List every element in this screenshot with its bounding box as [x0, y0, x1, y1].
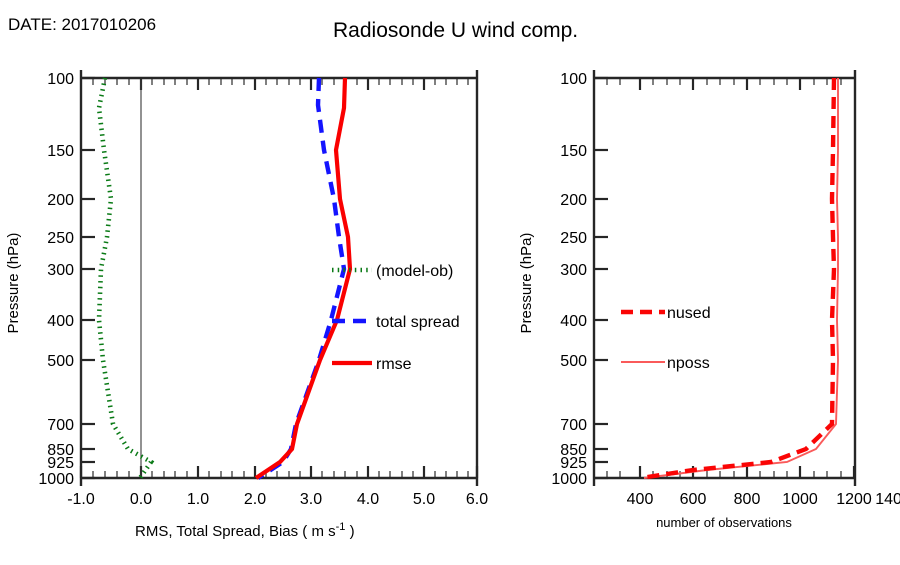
figure-canvas: DATE: 2017010206 Radiosonde U wind comp.… — [0, 0, 900, 560]
xtick-label: 2.0 — [244, 491, 266, 508]
left-ytick-labels: 100 150 200 250 300 400 500 700 850 925 … — [38, 71, 74, 488]
xtick-label: 4.0 — [357, 491, 379, 508]
ytick-label: 300 — [560, 262, 587, 279]
left-legend: (model-ob) total spread rmse — [332, 263, 460, 373]
ytick-label: 1000 — [38, 471, 74, 488]
left-panel: Pressure (hPa) 100 150 200 250 300 400 5… — [5, 70, 488, 540]
ytick-label: 100 — [560, 71, 587, 88]
xtick-label: 3.0 — [300, 491, 322, 508]
xtick-label: -1.0 — [67, 491, 95, 508]
xtick-label: 1000 — [782, 491, 818, 508]
xtick-label: 1.0 — [187, 491, 209, 508]
ytick-label: 925 — [47, 455, 74, 472]
right-legend: nused nposs — [621, 305, 711, 372]
right-xtick-minor — [607, 78, 841, 478]
right-ytick-marks — [594, 78, 608, 478]
xtick-label: 400 — [627, 491, 654, 508]
right-xaxis-title: number of observations — [656, 515, 792, 530]
legend-label-rmse: rmse — [376, 356, 412, 373]
page-title: Radiosonde U wind comp. — [333, 19, 578, 42]
ytick-label: 1000 — [551, 471, 587, 488]
ytick-label: 500 — [47, 353, 74, 370]
plot-svg: DATE: 2017010206 Radiosonde U wind comp.… — [0, 0, 900, 560]
legend-label-spread: total spread — [376, 314, 460, 331]
ytick-label: 150 — [47, 143, 74, 160]
ytick-label: 250 — [560, 230, 587, 247]
legend-label-bias: (model-ob) — [376, 263, 453, 280]
legend-label-nposs: nposs — [667, 355, 710, 372]
xtick-label: 1400 — [875, 491, 900, 508]
ytick-label: 250 — [47, 230, 74, 247]
series-bias-model-minus-ob — [99, 78, 151, 478]
ytick-label: 400 — [47, 313, 74, 330]
ytick-label: 150 — [560, 143, 587, 160]
ytick-label: 400 — [560, 313, 587, 330]
ytick-label: 700 — [47, 417, 74, 434]
right-xtick-labels: 400 600 800 1000 1200 — [627, 491, 872, 508]
xtick-label: 5.0 — [413, 491, 435, 508]
right-ytick-labels: 100 150 200 250 300 400 500 700 850 925 … — [551, 71, 587, 488]
xtick-label: 0.0 — [130, 491, 152, 508]
series-nposs — [644, 78, 838, 478]
right-yaxis-title: Pressure (hPa) — [518, 233, 535, 334]
ytick-label: 300 — [47, 262, 74, 279]
xtick-label: 1200 — [836, 491, 872, 508]
date-label: DATE: 2017010206 — [8, 15, 156, 34]
ytick-label: 500 — [560, 353, 587, 370]
left-ytick-marks — [81, 78, 95, 478]
series-nused — [641, 78, 834, 478]
xtick-label: 800 — [734, 491, 761, 508]
left-xtick-labels: -1.0 0.0 1.0 2.0 3.0 4.0 5.0 6.0 — [67, 491, 488, 508]
xtick-label: 600 — [680, 491, 707, 508]
left-yaxis-title: Pressure (hPa) — [5, 233, 22, 334]
series-rmse — [256, 78, 350, 478]
right-panel: Pressure (hPa) 100 150 200 250 300 400 5… — [518, 70, 900, 530]
left-xaxis-title: RMS, Total Spread, Bias ( m s-1 ) — [135, 521, 355, 540]
ytick-label: 100 — [47, 71, 74, 88]
ytick-label: 925 — [560, 455, 587, 472]
right-xtick-marks — [640, 78, 854, 478]
xtick-label: 6.0 — [466, 491, 488, 508]
legend-label-nused: nused — [667, 305, 711, 322]
ytick-label: 700 — [560, 417, 587, 434]
ytick-label: 200 — [47, 192, 74, 209]
ytick-label: 200 — [560, 192, 587, 209]
